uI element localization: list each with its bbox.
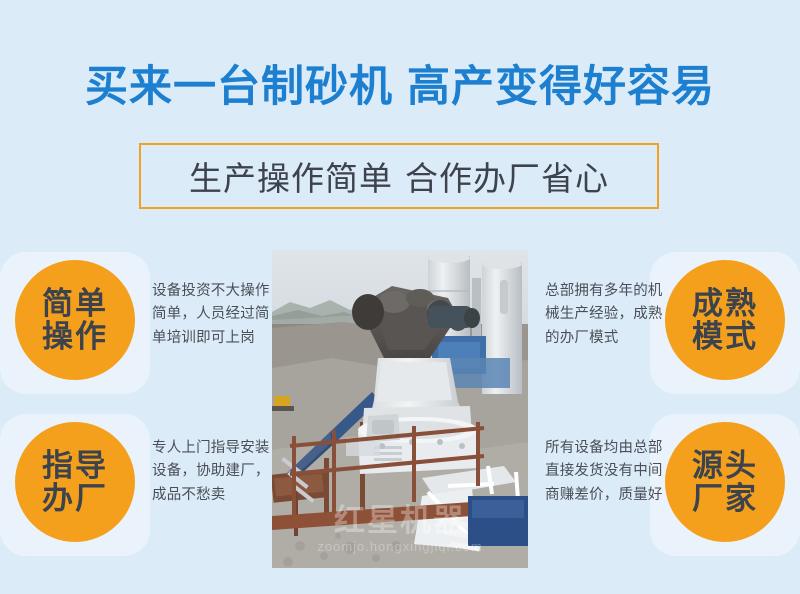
subtitle-segment-2: 合作办厂省心 [405, 160, 609, 197]
feature-badge-guided-factory[interactable]: 指导 办厂 [15, 422, 135, 542]
product-photo: 红星机器 zoomjo.hongxingjiqi.com [272, 250, 528, 568]
subtitle-segment-1: 生产操作简单 [189, 160, 393, 197]
feature-badge-source-manufacturer[interactable]: 源头 厂家 [665, 422, 785, 542]
feature-description-source-manufacturer: 所有设备均由总部直接发货没有中间商赚差价，质量好 [545, 437, 673, 507]
badge-line-2: 厂家 [692, 482, 758, 515]
feature-description-mature-model: 总部拥有多年的机械生产经验，成熟的办厂模式 [545, 280, 673, 350]
badge-line-1: 成熟 [692, 287, 758, 320]
promo-banner: 买来一台制砂机高产变得好容易 生产操作简单合作办厂省心 [0, 0, 800, 594]
badge-line-1: 简单 [42, 287, 108, 320]
page-title: 买来一台制砂机高产变得好容易 [0, 52, 800, 114]
title-segment-2: 高产变得好容易 [407, 63, 715, 111]
subtitle-box: 生产操作简单合作办厂省心 [139, 143, 659, 209]
subtitle-text: 生产操作简单合作办厂省心 [189, 152, 609, 200]
feature-badge-simple-operation[interactable]: 简单 操作 [15, 260, 135, 380]
badge-line-2: 模式 [692, 320, 758, 353]
feature-badge-mature-model[interactable]: 成熟 模式 [665, 260, 785, 380]
feature-description-simple-operation: 设备投资不大操作简单，人员经过简单培训即可上岗 [152, 280, 280, 350]
product-photo-illustration [272, 250, 528, 568]
badge-line-2: 操作 [42, 320, 108, 353]
feature-description-guided-factory: 专人上门指导安装设备，协助建厂，成品不愁卖 [152, 437, 280, 507]
badge-line-1: 指导 [42, 449, 108, 482]
badge-line-2: 办厂 [42, 482, 108, 515]
badge-line-1: 源头 [692, 449, 758, 482]
title-segment-1: 买来一台制砂机 [85, 63, 393, 111]
